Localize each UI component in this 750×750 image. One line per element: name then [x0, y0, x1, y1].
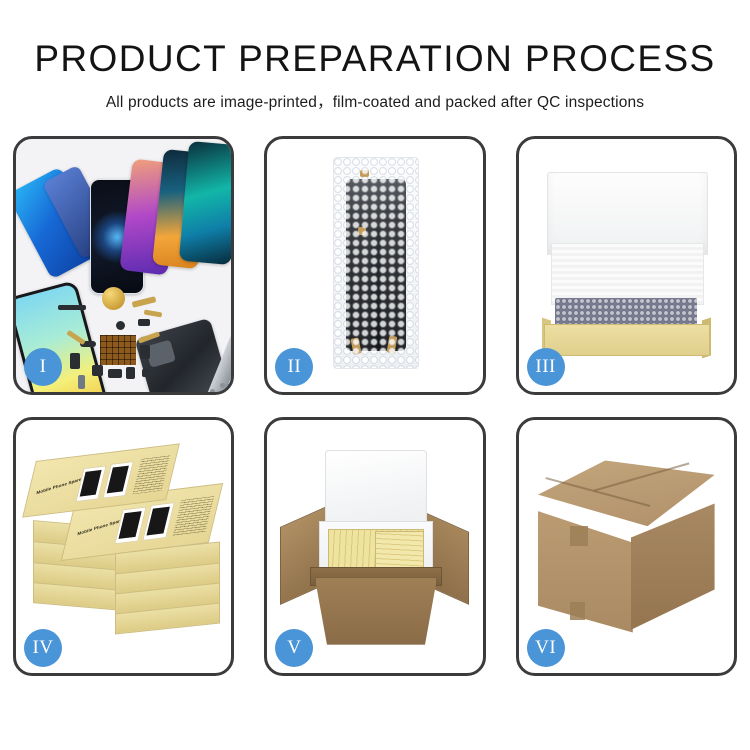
small-part: [108, 369, 122, 378]
step-badge-4: IV: [24, 629, 62, 667]
packed-yellow-boxes: [375, 531, 424, 568]
adhesive-tab: [360, 170, 369, 177]
small-part: [140, 345, 150, 359]
step-badge-3: III: [527, 348, 565, 386]
carton-body: [315, 577, 438, 645]
adhesive-tab: [358, 227, 366, 235]
small-part: [116, 321, 125, 330]
small-part: [142, 369, 150, 377]
process-step-2: II: [264, 136, 485, 395]
flex-cable: [371, 229, 381, 351]
screw-part: [210, 389, 215, 392]
flex-cable: [144, 309, 163, 317]
box-front-panel: [544, 324, 710, 356]
small-part: [70, 353, 80, 369]
carton-tape: [570, 526, 587, 546]
process-step-5: V: [264, 417, 485, 676]
label-window: [142, 503, 174, 541]
process-step-grid: I II III: [13, 136, 737, 676]
process-step-6: VI: [516, 417, 737, 676]
styrofoam-lid: [325, 450, 426, 528]
foam-sheet: [551, 243, 704, 306]
process-step-4: Mobile Phone Spare Parts Mobile Phone Sp…: [13, 417, 234, 676]
bubble-wrap-bag: [333, 157, 419, 369]
step-badge-6: VI: [527, 629, 565, 667]
small-part: [58, 305, 86, 310]
label-screen-image: [107, 465, 130, 493]
small-part: [78, 375, 85, 389]
label-window: [102, 460, 134, 498]
page-title: PRODUCT PREPARATION PROCESS: [0, 40, 750, 79]
process-step-1: I: [13, 136, 234, 395]
flex-cable: [132, 296, 157, 308]
label-screen-image: [80, 470, 102, 497]
step-badge-1: I: [24, 348, 62, 386]
connector-grid-part: [100, 335, 136, 365]
page-subtitle: All products are image-printed，film-coat…: [0, 90, 750, 112]
label-screen-image: [118, 512, 141, 540]
header: PRODUCT PREPARATION PROCESS All products…: [0, 0, 750, 112]
teal-gradient-phone: [179, 141, 231, 265]
label-spec-lines: [173, 497, 214, 537]
label-spec-lines: [132, 455, 170, 494]
small-part: [138, 319, 150, 326]
carton-tape: [570, 602, 585, 620]
label-screen-image: [146, 507, 169, 536]
bubble-wrapped-contents: [555, 298, 697, 326]
adhesive-tab: [387, 336, 398, 354]
speaker-module-icon: [102, 287, 125, 310]
small-part: [126, 367, 135, 379]
small-part: [92, 365, 103, 376]
process-step-3: III: [516, 136, 737, 395]
